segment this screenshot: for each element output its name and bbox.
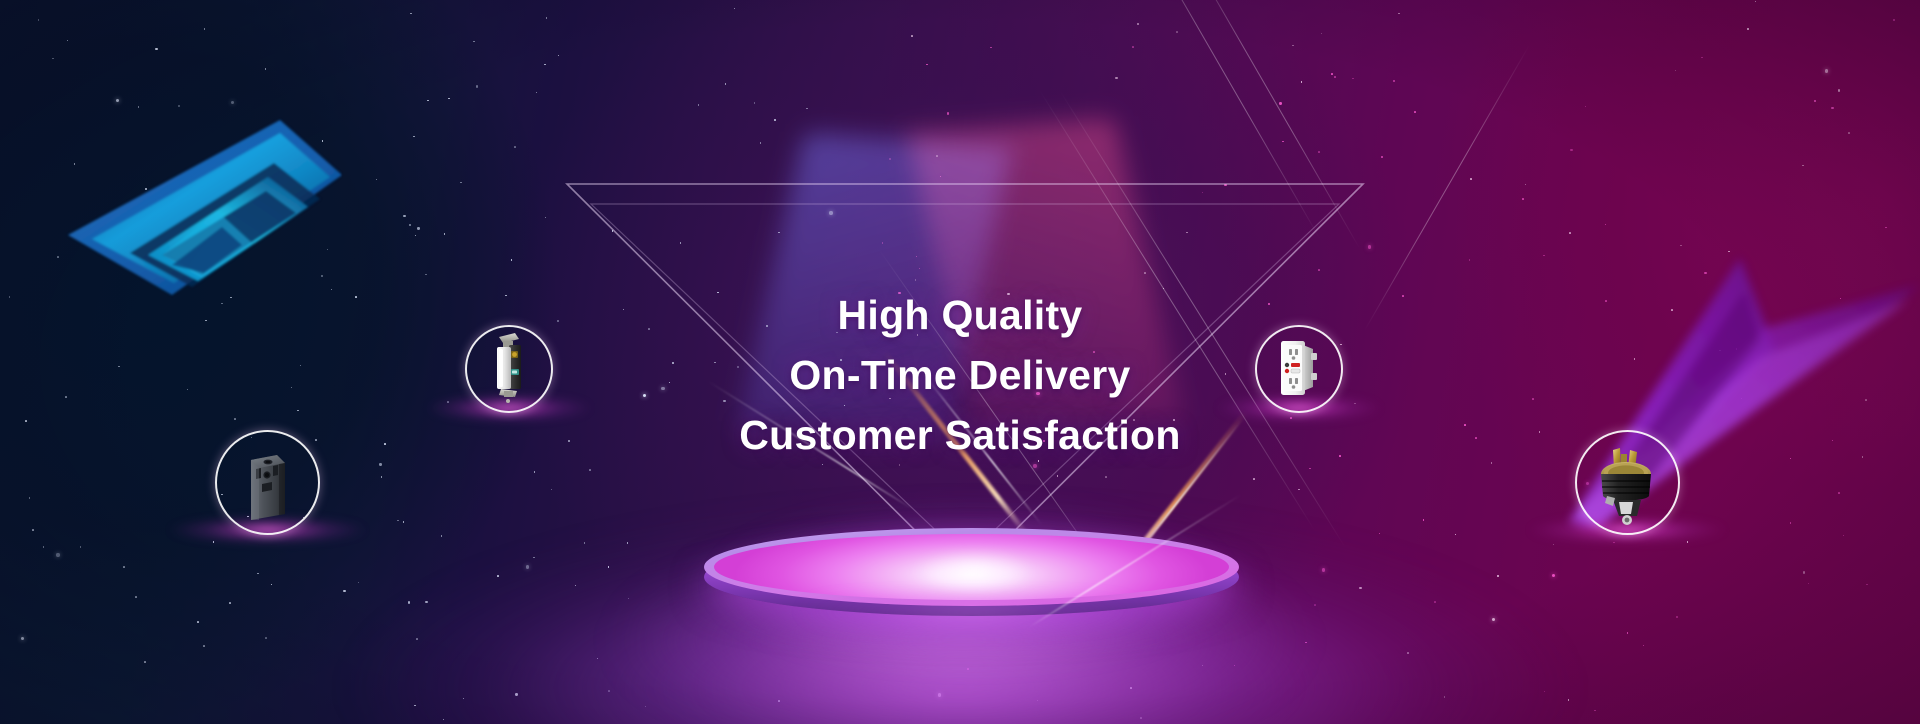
hero-banner: High Quality On-Time Delivery Customer S… [0,0,1920,724]
vignette-overlay [0,0,1920,724]
